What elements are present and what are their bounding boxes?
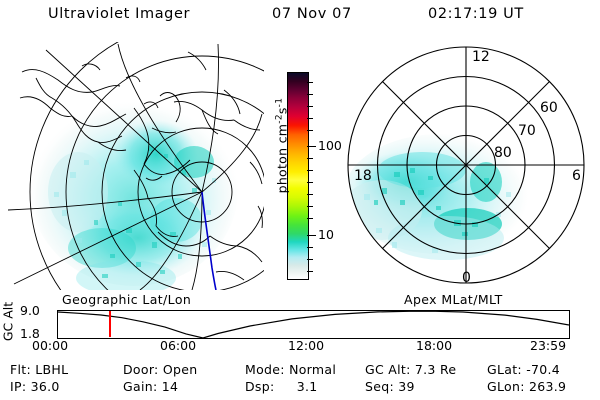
colorbar-tick [307,206,313,207]
mlat-label-70: 70 [518,123,536,139]
status-dsp: Dsp: 3.1 [245,379,318,394]
observation-time: 02:17:19 UT [428,6,524,22]
colorbar-tick [307,182,313,183]
mlat-label-80: 80 [494,145,512,161]
altitude-axis-label: GC Alt [1,298,16,346]
colorbar-tick [307,106,313,107]
mlt-label-6: 6 [572,168,581,184]
status-glon: GLon: 263.9 [487,379,566,394]
status-ip: IP: 36.0 [10,379,60,394]
current-time-marker [109,311,111,337]
time-tick-1200: 12:00 [288,340,324,353]
altitude-trace-svg [58,311,569,338]
colorbar-tick [307,247,313,248]
mlt-label-18: 18 [354,168,372,184]
colorbar-gradient [287,72,309,280]
time-tick-1800: 18:00 [416,340,452,353]
colorbar-tick [307,218,313,219]
colorbar-tick [307,271,313,272]
observation-date: 07 Nov 07 [272,6,352,22]
colorbar-tick [307,194,313,195]
status-mode: Mode: Normal [245,362,336,377]
altitude-plot-frame [57,310,570,339]
header-bar: Ultraviolet Imager 07 Nov 07 02:17:19 UT [0,6,600,28]
uvi-display-window: Ultraviolet Imager 07 Nov 07 02:17:19 UT [0,0,600,400]
mlt-label-0: 0 [462,270,471,286]
mlat-label-60: 60 [540,100,558,116]
status-door: Door: Open [123,362,197,377]
apex-polar-panel[interactable]: 12 18 6 0 60 70 80 Apex MLat/MLT [336,42,594,290]
colorbar-tick [307,158,313,159]
colorbar-axis-label: photon cm-2s-1 [274,62,289,230]
apex-mlt-spokes [348,47,584,283]
colorbar-tick [307,130,313,131]
status-flt: Flt: LBHL [10,362,68,377]
status-block: Flt: LBHL Door: Open Mode: Normal GC Alt… [0,362,600,398]
status-glat: GLat: -70.4 [487,362,560,377]
colorbar-ticklabel-10: 10 [318,229,334,242]
status-gain: Gain: 14 [123,379,178,394]
mlt-label-12: 12 [472,49,490,65]
orbit-altitude-plot[interactable]: GC Alt 9.0 1.8 00:00 06:00 12:00 18:00 2… [0,300,600,358]
status-seq: Seq: 39 [365,379,415,394]
colorbar[interactable]: photon cm-2s-1 100 10 [260,60,336,292]
colorbar-tick [307,259,313,260]
colorbar-tick [307,118,313,119]
geographic-map-panel[interactable]: Geographic Lat/Lon [6,42,264,290]
colorbar-tick-major-10 [307,235,316,236]
time-tick-0600: 06:00 [160,340,196,353]
altitude-ytick-top: 9.0 [20,305,40,318]
status-gc-alt: GC Alt: 7.3 Re [365,362,456,377]
instrument-title: Ultraviolet Imager [48,6,190,22]
time-tick-2359: 23:59 [530,340,566,353]
geographic-map-svg [6,42,264,290]
apex-polar-svg: 12 18 6 0 60 70 80 [336,42,594,290]
colorbar-tick [307,82,313,83]
colorbar-tick [307,170,313,171]
colorbar-tick-major-100 [307,146,316,147]
colorbar-tick [307,94,313,95]
time-tick-0000: 00:00 [32,340,68,353]
